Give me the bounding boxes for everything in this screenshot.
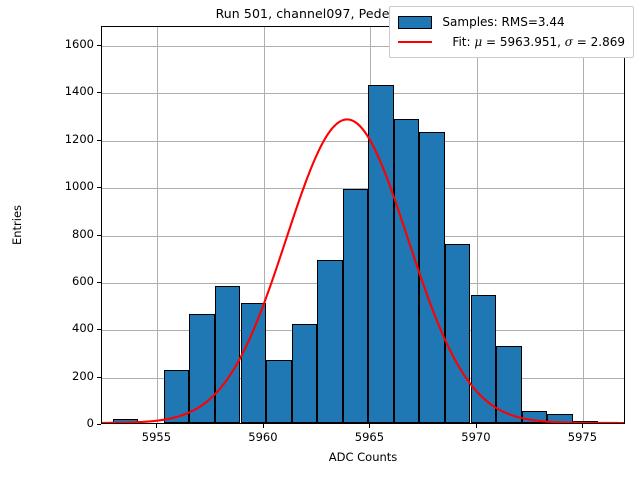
legend-fit-sigma-value: = 2.869 — [573, 35, 625, 49]
x-tick-mark — [369, 424, 370, 428]
x-axis-label-text: ADC Counts — [329, 450, 398, 464]
legend-fit-mu-value: = 5963.951, — [482, 35, 565, 49]
y-tick-label: 1000 — [0, 179, 94, 193]
legend-fit-mu-symbol: μ — [474, 35, 482, 49]
chart-legend[interactable]: Samples: RMS=3.44 Fit: μ = 5963.951, σ =… — [389, 6, 634, 58]
chart-title-text: Run 501, channel097, Pedestal — [216, 6, 413, 21]
x-tick-mark — [476, 424, 477, 428]
legend-entry-samples[interactable]: Samples: RMS=3.44 — [397, 12, 625, 32]
y-tick-mark — [97, 424, 101, 425]
x-tick-label: 5960 — [248, 430, 277, 444]
legend-line-icon — [397, 35, 433, 50]
plot-area — [102, 27, 624, 423]
matplotlib-figure: Run 501, channel097, Pedestal Entries AD… — [0, 0, 640, 480]
y-tick-label: 0 — [0, 416, 94, 430]
x-tick-label: 5970 — [461, 430, 490, 444]
legend-label-samples: Samples: RMS=3.44 — [442, 15, 564, 29]
fit-curve-path — [102, 119, 624, 423]
y-tick-label: 1200 — [0, 132, 94, 146]
y-tick-label: 400 — [0, 321, 94, 335]
legend-patch-icon — [397, 15, 433, 30]
legend-fit-prefix: Fit: — [452, 35, 474, 49]
gaussian-fit-curve — [102, 27, 624, 423]
x-tick-mark — [156, 424, 157, 428]
y-tick-label: 800 — [0, 227, 94, 241]
y-tick-label: 200 — [0, 369, 94, 383]
y-tick-label: 1600 — [0, 37, 94, 51]
x-tick-label: 5965 — [355, 430, 384, 444]
legend-entry-fit[interactable]: Fit: μ = 5963.951, σ = 2.869 — [397, 32, 625, 52]
x-tick-mark — [582, 424, 583, 428]
x-axis-label: ADC Counts — [101, 450, 625, 464]
x-tick-label: 5975 — [568, 430, 597, 444]
legend-fit-sigma-symbol: σ — [565, 35, 573, 49]
x-tick-mark — [263, 424, 264, 428]
legend-label-fit: Fit: μ = 5963.951, σ = 2.869 — [442, 35, 625, 49]
y-tick-label: 600 — [0, 274, 94, 288]
x-tick-label: 5955 — [142, 430, 171, 444]
plot-axes — [101, 26, 625, 424]
y-tick-label: 1400 — [0, 84, 94, 98]
